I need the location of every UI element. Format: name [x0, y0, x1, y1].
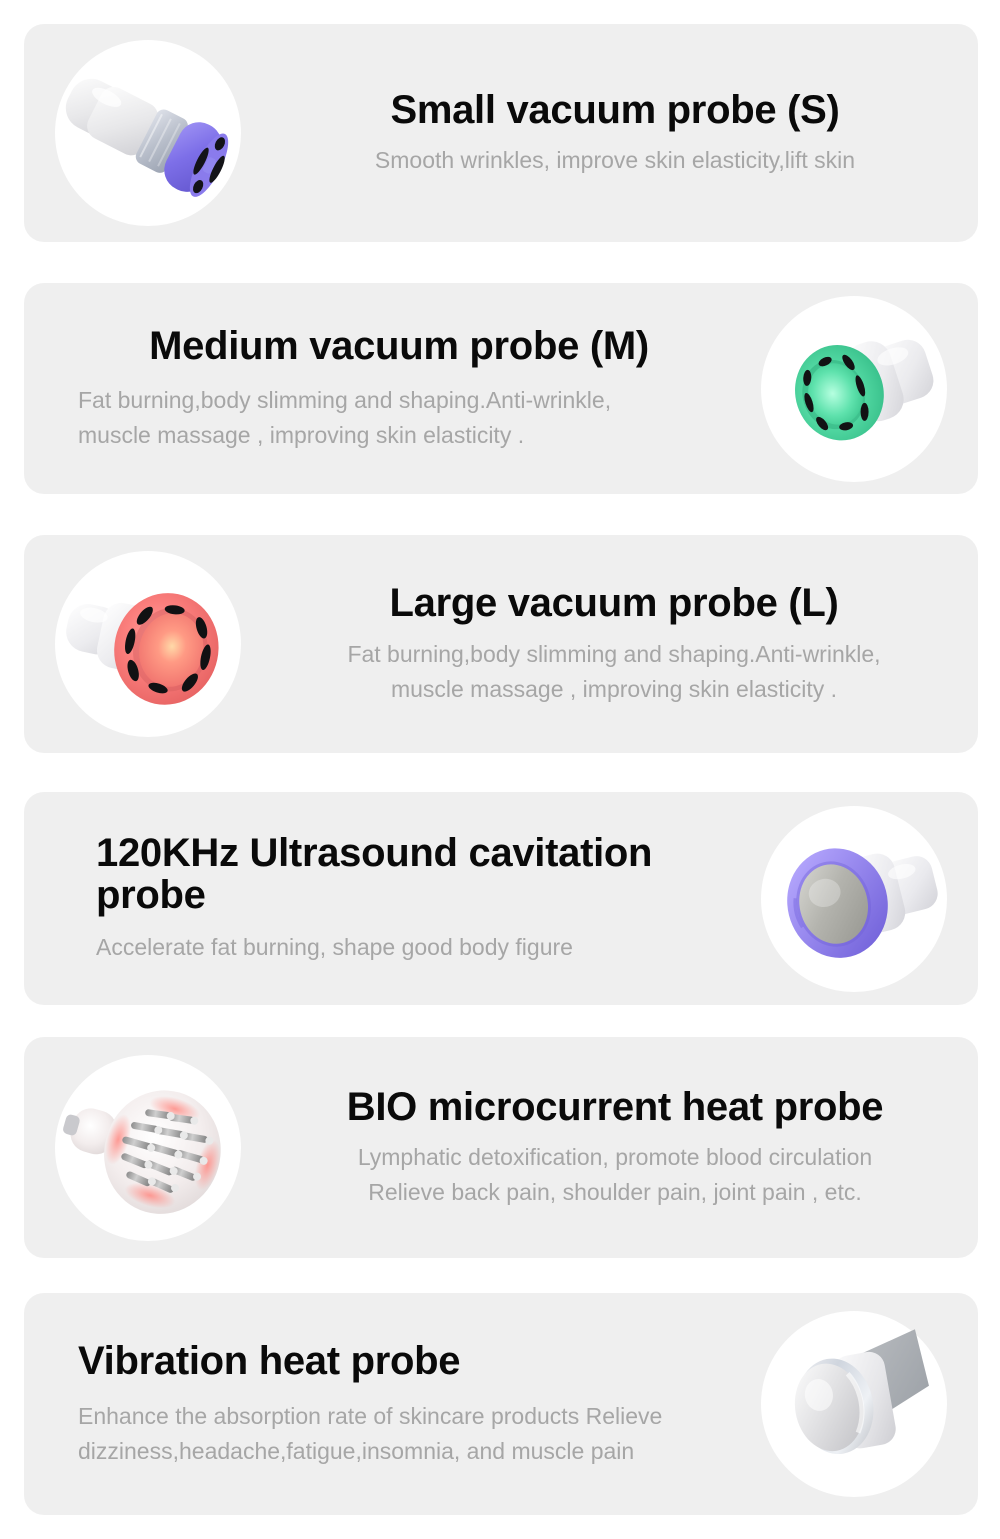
probe-title: Small vacuum probe (S) [298, 88, 932, 134]
vibration-heat-probe-image [761, 1311, 947, 1497]
probe-text-container: Medium vacuum probe (M) Fat burning,body… [24, 324, 730, 454]
probe-card-vibration-heat-probe: Vibration heat probe Enhance the absorpt… [24, 1293, 978, 1515]
probe-text-container: Large vacuum probe (L) Fat burning,body … [272, 581, 978, 707]
bio-microcurrent-heat-probe-image [55, 1055, 241, 1241]
probe-image-container [730, 283, 978, 494]
probe-description: Accelerate fat burning, shape good body … [96, 930, 724, 965]
probe-text-container: BIO microcurrent heat probe Lymphatic de… [272, 1085, 978, 1211]
probe-image-container [24, 24, 272, 242]
probe-description: Enhance the absorption rate of skincare … [78, 1399, 724, 1469]
probe-description: Fat burning,body slimming and shaping.An… [290, 637, 938, 707]
small-vacuum-probe-image [55, 40, 241, 226]
probe-text-container: 120KHz Ultrasound cavitation probe Accel… [24, 832, 730, 966]
probe-image-container [730, 1293, 978, 1515]
medium-vacuum-probe-image [761, 296, 947, 482]
probe-description: Smooth wrinkles, improve skin elasticity… [298, 143, 932, 178]
probe-card-ultrasound-cavitation-probe: 120KHz Ultrasound cavitation probe Accel… [24, 792, 978, 1005]
probe-card-medium-vacuum-probe: Medium vacuum probe (M) Fat burning,body… [24, 283, 978, 494]
probe-image-container [730, 792, 978, 1005]
probe-image-container [24, 535, 272, 753]
probe-title: Medium vacuum probe (M) [78, 324, 720, 370]
ultrasound-cavitation-probe-image [761, 806, 947, 992]
probe-text-container: Small vacuum probe (S) Smooth wrinkles, … [272, 88, 978, 179]
probe-accessories-infographic: Small vacuum probe (S) Smooth wrinkles, … [0, 0, 1000, 1539]
probe-title: Vibration heat probe [78, 1339, 724, 1385]
probe-description: Fat burning,body slimming and shaping.An… [78, 383, 720, 453]
probe-title: Large vacuum probe (L) [290, 581, 938, 627]
probe-title: BIO microcurrent heat probe [294, 1085, 936, 1131]
probe-card-bio-microcurrent-heat-probe: BIO microcurrent heat probe Lymphatic de… [24, 1037, 978, 1258]
large-vacuum-probe-image [55, 551, 241, 737]
probe-text-container: Vibration heat probe Enhance the absorpt… [24, 1339, 730, 1469]
probe-image-container [24, 1037, 272, 1258]
probe-card-small-vacuum-probe: Small vacuum probe (S) Smooth wrinkles, … [24, 24, 978, 242]
probe-card-large-vacuum-probe: Large vacuum probe (L) Fat burning,body … [24, 535, 978, 753]
probe-title: 120KHz Ultrasound cavitation probe [96, 832, 724, 917]
probe-description: Lymphatic detoxification, promote blood … [294, 1140, 936, 1210]
